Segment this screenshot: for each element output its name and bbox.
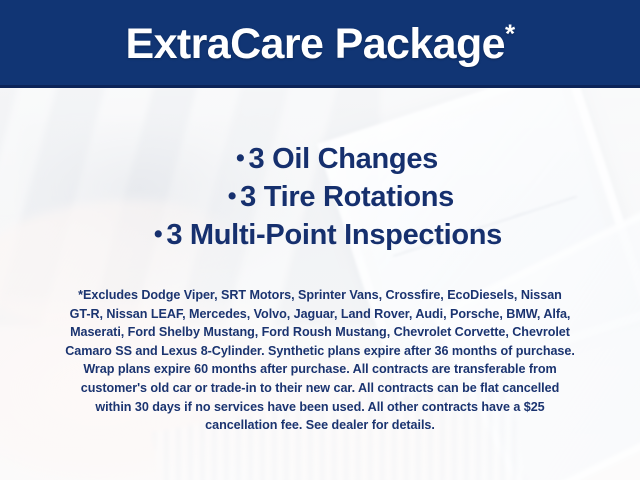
disclaimer-line: within 30 days if no services have been … <box>34 398 606 417</box>
page-title: ExtraCare Package* <box>126 23 515 66</box>
page-title-text: ExtraCare Package <box>126 20 505 68</box>
bullet-icon: • <box>228 182 236 210</box>
title-asterisk: * <box>505 18 515 48</box>
disclaimer-line: Camaro SS and Lexus 8-Cylinder. Syntheti… <box>34 342 606 361</box>
disclaimer-line: customer's old car or trade-in to their … <box>34 379 606 398</box>
header-banner: ExtraCare Package* <box>0 0 640 88</box>
bullet-icon: • <box>154 220 162 248</box>
list-item: •3 Oil Changes <box>0 140 640 178</box>
list-item: •3 Multi-Point Inspections <box>0 216 640 254</box>
benefit-label: 3 Multi-Point Inspections <box>166 219 502 251</box>
extracare-package-promo-card: ExtraCare Package* •3 Oil Changes •3 Tir… <box>0 0 640 480</box>
disclaimer-line: Maserati, Ford Shelby Mustang, Ford Rous… <box>34 323 606 342</box>
benefits-list: •3 Oil Changes •3 Tire Rotations •3 Mult… <box>0 140 640 254</box>
disclaimer-line: cancellation fee. See dealer for details… <box>34 416 606 435</box>
disclaimer-line: Wrap plans expire 60 months after purcha… <box>34 360 606 379</box>
list-item: •3 Tire Rotations <box>0 178 640 216</box>
bullet-icon: • <box>236 144 244 172</box>
benefit-label: 3 Tire Rotations <box>240 181 454 213</box>
benefit-label: 3 Oil Changes <box>249 143 439 175</box>
disclaimer-line: GT-R, Nissan LEAF, Mercedes, Volvo, Jagu… <box>34 305 606 324</box>
disclaimer-line: *Excludes Dodge Viper, SRT Motors, Sprin… <box>34 286 606 305</box>
disclaimer-text: *Excludes Dodge Viper, SRT Motors, Sprin… <box>34 286 606 435</box>
